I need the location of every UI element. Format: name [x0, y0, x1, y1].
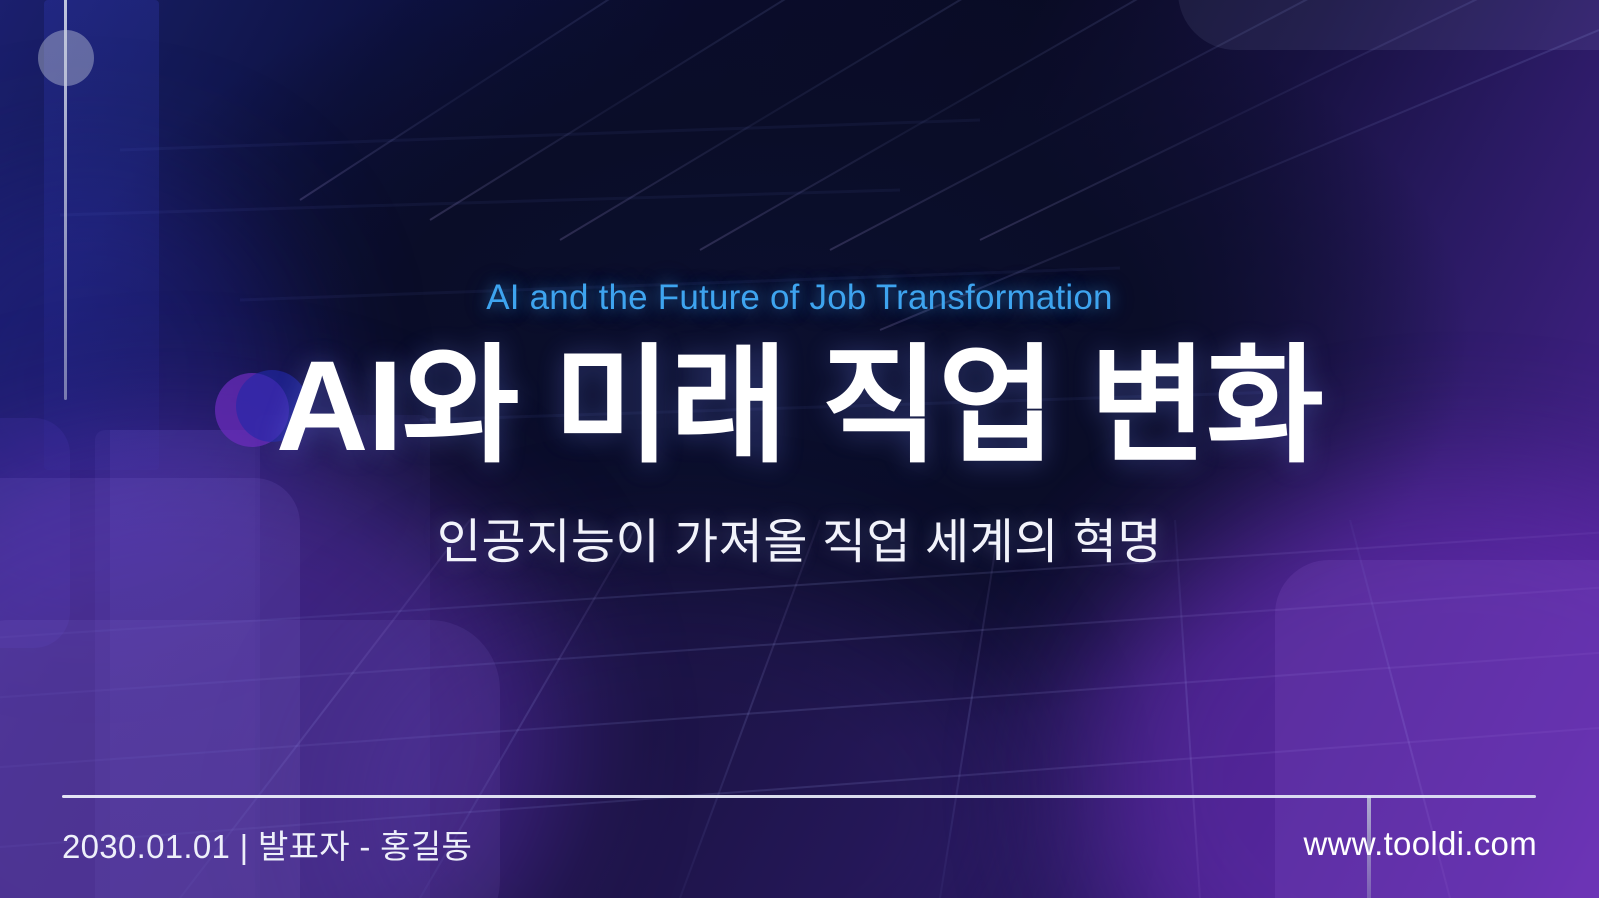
footer: 2030.01.01 | 발표자 - 홍길동 www.tooldi.com	[62, 806, 1537, 882]
footer-divider	[62, 795, 1536, 798]
footer-website-url[interactable]: www.tooldi.com	[1304, 825, 1537, 863]
page-title: AI와 미래 직업 변화	[0, 340, 1599, 474]
slide-eyebrow-english: AI and the Future of Job Transformation	[0, 278, 1599, 318]
slide-subtitle: 인공지능이 가져올 직업 세계의 혁명	[0, 502, 1599, 572]
footer-date-presenter: 2030.01.01 | 발표자 - 홍길동	[62, 820, 472, 868]
slide-content: AI and the Future of Job Transformation …	[0, 0, 1599, 898]
title-slide: AI and the Future of Job Transformation …	[0, 0, 1599, 898]
